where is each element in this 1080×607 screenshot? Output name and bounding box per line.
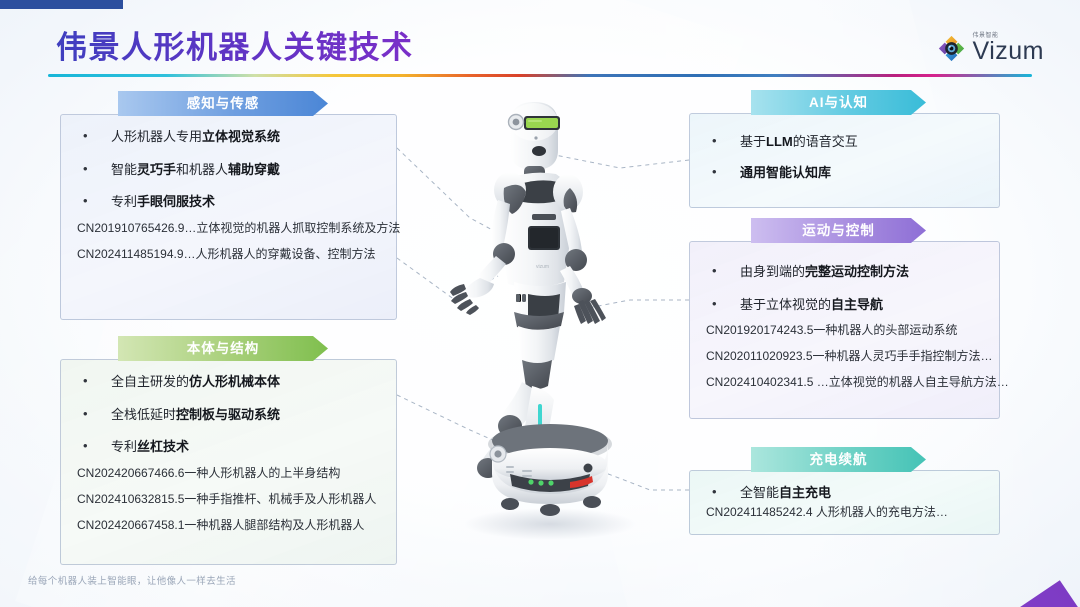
- list-item: 全自主研发的仿人形机械本体: [77, 374, 380, 390]
- panel-body-structure: 本体与结构 全自主研发的仿人形机械本体 全栈低延时控制板与驱动系统 专利丝杠技术…: [60, 336, 397, 565]
- list-item: 基于立体视觉的自主导航: [706, 297, 983, 313]
- patent-entry: CN201910765426.9…立体视觉的机器人抓取控制系统及方法: [77, 221, 380, 236]
- list-item: 全栈低延时控制板与驱动系统: [77, 407, 380, 423]
- panel-body-ai-cognition: 基于LLM的语音交互 通用智能认知库: [689, 113, 1000, 208]
- slide-canvas: 伟景人形机器人关键技术: [0, 0, 1080, 607]
- brand-logo: 伟景智能 Vizum: [938, 33, 1044, 64]
- list-item: 智能灵巧手和机器人辅助穿戴: [77, 162, 380, 178]
- panel-charging-endurance: 充电续航 全智能自主充电 CN202411485242.4 人形机器人的充电方法…: [689, 447, 1000, 535]
- svg-text:vizum: vizum: [536, 264, 549, 270]
- page-title: 伟景人形机器人关键技术: [56, 22, 414, 67]
- bullet-list: 由身到端的完整运动控制方法 基于立体视觉的自主导航: [706, 264, 983, 312]
- patent-entry: CN202011020923.5一种机器人灵巧手手指控制方法…: [706, 349, 983, 364]
- panel-body-perception-sensing: 人形机器人专用立体视觉系统 智能灵巧手和机器人辅助穿戴 专利手眼伺服技术 CN2…: [60, 114, 397, 320]
- bullet-list: 人形机器人专用立体视觉系统 智能灵巧手和机器人辅助穿戴 专利手眼伺服技术: [77, 129, 380, 210]
- patent-entry: CN202410402341.5 …立体视觉的机器人自主导航方法…: [706, 375, 983, 390]
- list-item: 人形机器人专用立体视觉系统: [77, 129, 380, 145]
- list-item: 专利手眼伺服技术: [77, 194, 380, 210]
- patent-entry: CN201920174243.5一种机器人的头部运动系统: [706, 323, 983, 338]
- brand-wordmark: 伟景智能 Vizum: [972, 33, 1044, 64]
- patent-entry: CN202420667458.1一种机器人腿部结构及人形机器人: [77, 518, 380, 533]
- patent-list: CN202420667466.6一种人形机器人的上半身结构 CN20241063…: [77, 466, 380, 533]
- bullet-list: 全自主研发的仿人形机械本体 全栈低延时控制板与驱动系统 专利丝杠技术: [77, 374, 380, 455]
- list-item: 由身到端的完整运动控制方法: [706, 264, 983, 280]
- panel-body-motion-control: 由身到端的完整运动控制方法 基于立体视觉的自主导航 CN201920174243…: [689, 241, 1000, 419]
- corner-accent-bottom-right: [902, 580, 1080, 607]
- panel-body-body-structure: 全自主研发的仿人形机械本体 全栈低延时控制板与驱动系统 专利丝杠技术 CN202…: [60, 359, 397, 565]
- panel-perception-sensing: 感知与传感 人形机器人专用立体视觉系统 智能灵巧手和机器人辅助穿戴 专利手眼伺服…: [60, 91, 397, 320]
- humanoid-robot-illustration: vizum: [418, 96, 688, 546]
- panel-header-ai-cognition: AI与认知: [751, 90, 926, 115]
- list-item: 通用智能认知库: [706, 165, 983, 181]
- corner-accent-top-left: [0, 0, 123, 9]
- patent-entry: CN202410632815.5一种手指推杆、机械手及人形机器人: [77, 492, 380, 507]
- list-item: 全智能自主充电: [706, 485, 983, 501]
- list-item: 专利丝杠技术: [77, 439, 380, 455]
- vizum-eye-icon: [938, 35, 965, 62]
- patent-entry: CN202420667466.6一种人形机器人的上半身结构: [77, 466, 380, 481]
- patent-list: CN201920174243.5一种机器人的头部运动系统 CN202011020…: [706, 323, 983, 390]
- panel-header-body-structure: 本体与结构: [118, 336, 328, 361]
- brand-name-en: Vizum: [972, 40, 1044, 64]
- patent-list: CN201910765426.9…立体视觉的机器人抓取控制系统及方法 CN202…: [77, 221, 380, 262]
- panel-motion-control: 运动与控制 由身到端的完整运动控制方法 基于立体视觉的自主导航 CN201920…: [689, 218, 1000, 419]
- bullet-list: 全智能自主充电: [706, 485, 983, 501]
- footer-tagline: 给每个机器人装上智能眼，让他像人一样去生活: [28, 573, 236, 587]
- patent-list: CN202411485242.4 人形机器人的充电方法…: [706, 505, 983, 520]
- list-item: 基于LLM的语音交互: [706, 134, 983, 150]
- panel-header-perception-sensing: 感知与传感: [118, 91, 328, 116]
- panel-body-charging-endurance: 全智能自主充电 CN202411485242.4 人形机器人的充电方法…: [689, 470, 1000, 535]
- panel-header-charging-endurance: 充电续航: [751, 447, 926, 472]
- patent-entry: CN202411485242.4 人形机器人的充电方法…: [706, 505, 983, 520]
- bullet-list: 基于LLM的语音交互 通用智能认知库: [706, 134, 983, 180]
- panel-header-motion-control: 运动与控制: [751, 218, 926, 243]
- panel-ai-cognition: AI与认知 基于LLM的语音交互 通用智能认知库: [689, 90, 1000, 208]
- title-underline-gradient: [48, 74, 1032, 77]
- patent-entry: CN202411485194.9…人形机器人的穿戴设备、控制方法: [77, 247, 380, 262]
